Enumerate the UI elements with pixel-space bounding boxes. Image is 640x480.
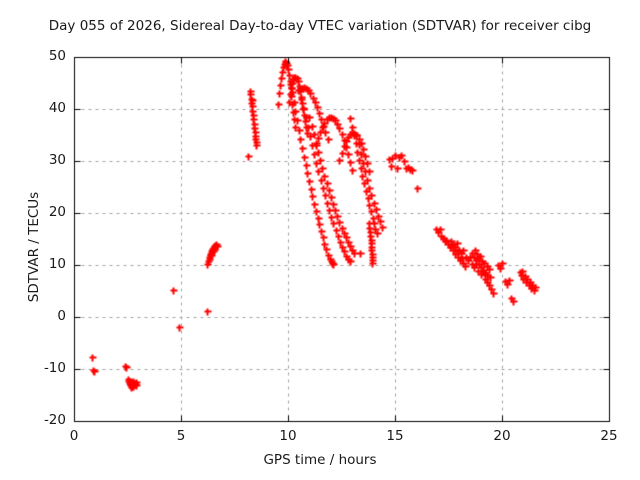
chart-figure: Day 055 of 2026, Sidereal Day-to-day VTE… <box>0 0 640 480</box>
x-tick-label: 5 <box>161 428 201 444</box>
x-tick-label: 25 <box>589 428 629 444</box>
y-tick-label: 20 <box>20 204 66 220</box>
y-tick-label: 30 <box>20 152 66 168</box>
x-tick-label: 20 <box>482 428 522 444</box>
x-tick-label: 10 <box>268 428 308 444</box>
y-tick-label: 0 <box>20 308 66 324</box>
x-tick-label: 0 <box>54 428 94 444</box>
y-tick-label: -20 <box>20 412 66 428</box>
x-axis-label: GPS time / hours <box>0 452 640 468</box>
y-tick-label: 10 <box>20 256 66 272</box>
scatter-plot-canvas <box>0 0 640 480</box>
x-tick-label: 15 <box>375 428 415 444</box>
y-tick-label: 50 <box>20 48 66 64</box>
y-tick-label: 40 <box>20 100 66 116</box>
y-tick-label: -10 <box>20 360 66 376</box>
